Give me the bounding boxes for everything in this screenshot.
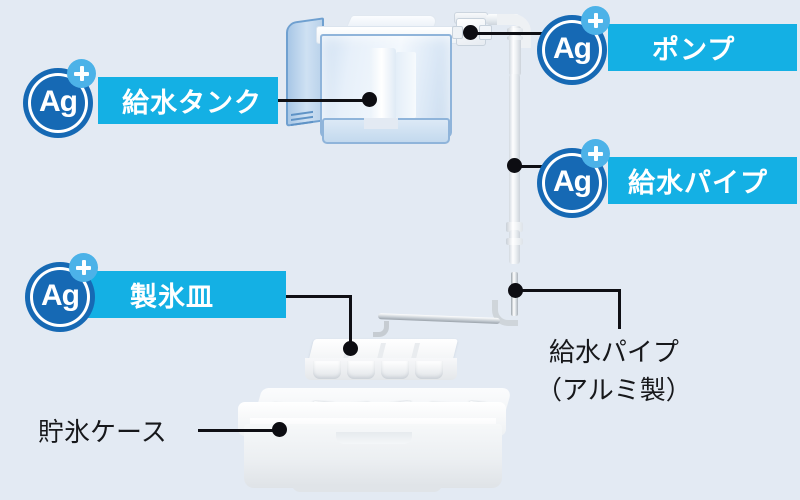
leader-dot-pump [463,25,478,40]
label-text-pump: ポンプ [652,28,735,67]
badge-ag-text: Ag [39,87,77,117]
leader-dot-water-tank [362,92,377,107]
water-tank-illustration [286,8,456,138]
supply-pipe-vertical-middle [509,74,520,224]
ag-plus-badge-pump: Ag [534,6,616,88]
label-text-water-tank: 給水タンク [122,81,262,120]
badge-plus-icon [67,59,96,88]
leader-line-pump [470,32,542,35]
tank-inner-tube-secondary [396,52,416,118]
label-aluminum-pipe: 給水パイプ （アルミ製） [536,334,692,409]
diagram-canvas: 給水タンク Ag ポンプ Ag 給水パイプ Ag 製氷皿 [0,0,800,500]
ice-case-handle [336,432,412,444]
leader-line-aluminum-pipe-horizontal [515,289,621,292]
tank-handle-grip [291,111,313,116]
ag-plus-badge-supply-pipe: Ag [534,139,616,221]
ice-tray-cell [381,361,409,379]
leader-line-ice-case [198,429,280,432]
leader-dot-ice-case [272,422,287,437]
ice-storage-case-illustration [238,388,510,494]
tank-base-notch [364,118,398,129]
ice-tray-cell [415,361,443,379]
leader-dot-supply-pipe [507,158,522,173]
aluminum-pipe-horizontal [378,313,500,324]
label-bar-supply-pipe[interactable]: 給水パイプ [608,157,797,204]
leader-line-ice-tray-vertical [349,295,352,347]
pump-inlet-port [452,26,463,39]
aluminum-pipe-outlet-hook [373,321,389,337]
label-bar-water-tank[interactable]: 給水タンク [98,77,278,124]
badge-ag-text: Ag [553,34,591,64]
label-aluminum-pipe-line2: （アルミ製） [536,372,692,410]
badge-plus-icon [581,6,610,35]
label-bar-pump[interactable]: ポンプ [608,24,797,71]
ice-tray-illustration [305,339,460,387]
label-aluminum-pipe-line1: 給水パイプ [536,334,692,372]
label-text-supply-pipe: 給水パイプ [628,161,768,200]
leader-line-water-tank [278,99,370,102]
badge-plus-icon [581,139,610,168]
ice-tray-cell [347,361,375,379]
leader-line-aluminum-pipe-vertical [618,289,621,329]
label-ice-storage-case-text: 貯氷ケース [38,417,167,447]
ice-case-foot [292,484,442,492]
supply-pipe-joint-lower [506,238,523,245]
leader-line-ice-tray-horizontal [286,295,352,298]
badge-plus-icon [69,253,98,282]
tank-inner-tube [370,48,396,122]
supply-pipe-vertical-lower [509,230,520,264]
ag-plus-badge-water-tank: Ag [20,59,102,141]
ag-plus-badge-ice-tray: Ag [22,253,104,335]
badge-ag-text: Ag [553,167,591,197]
ice-tray-cell [313,361,341,379]
badge-ag-text: Ag [41,281,79,311]
supply-pipe-joint-upper2 [507,36,523,40]
label-bar-ice-tray[interactable]: 製氷皿 [88,271,286,318]
leader-dot-aluminum-pipe [508,283,523,298]
label-ice-storage-case: 貯氷ケース [38,414,167,452]
leader-dot-ice-tray [343,341,358,356]
label-text-ice-tray: 製氷皿 [130,275,214,314]
